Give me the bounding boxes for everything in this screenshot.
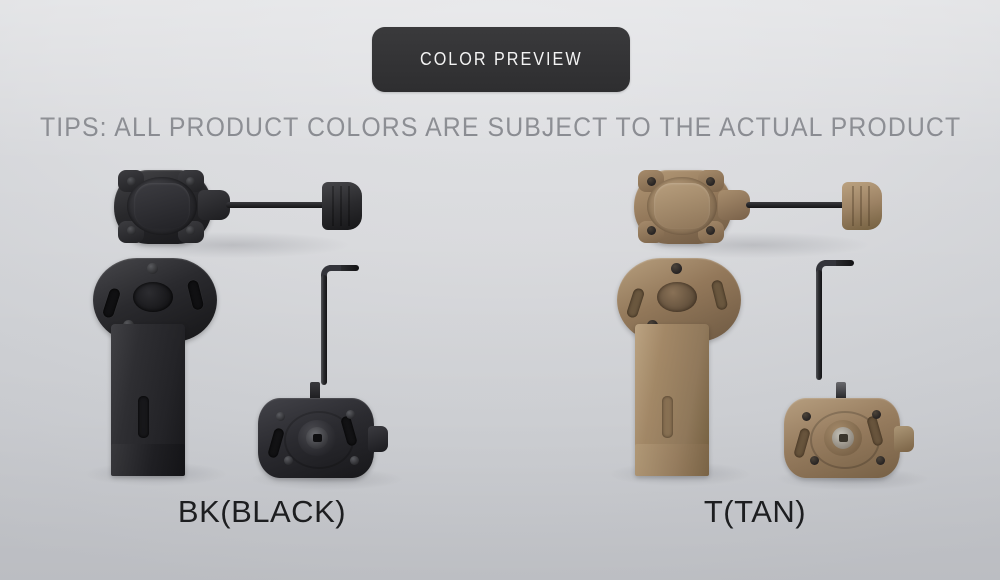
bracket-arm-slot <box>138 396 149 438</box>
hex-allen-key-tan <box>808 260 854 380</box>
remote-pressure-switch-bk <box>114 168 362 246</box>
switch-screw-1 <box>647 177 656 186</box>
helmet-rail-mount-bracket-tan <box>617 258 741 476</box>
switch-screw-3 <box>127 226 136 235</box>
plate-screw-2 <box>346 410 355 419</box>
plate-screw-3 <box>284 456 293 465</box>
plate-side-tab <box>368 426 388 452</box>
plate-screw-4 <box>350 456 359 465</box>
switch-screw-2 <box>186 177 195 186</box>
helmet-rail-mount-bracket-bk <box>93 258 217 476</box>
switch-screw-4 <box>186 226 195 235</box>
switch-screw-2 <box>706 177 715 186</box>
switch-screw-4 <box>706 226 715 235</box>
bracket-arm-slot <box>662 396 673 438</box>
plate-screw-3 <box>810 456 819 465</box>
color-preview-stage: COLOR PREVIEW TIPS: ALL PRODUCT COLORS A… <box>0 0 1000 580</box>
plate-hex-socket <box>839 434 848 442</box>
switch-pressure-pad <box>654 183 710 229</box>
badge-label: COLOR PREVIEW <box>420 49 583 70</box>
hex-key-long-arm <box>321 275 327 385</box>
plate-hex-socket <box>313 434 322 442</box>
adapter-base-plate-bk <box>258 398 386 478</box>
switch-screw-1 <box>127 177 136 186</box>
plate-screw-2 <box>872 410 881 419</box>
switch-pressure-pad <box>134 183 190 229</box>
plate-side-tab <box>894 426 914 452</box>
tips-text: TIPS: ALL PRODUCT COLORS ARE SUBJECT TO … <box>40 112 960 143</box>
bracket-foot <box>635 444 709 476</box>
plate-screw-1 <box>802 412 811 421</box>
variant-label-bk: BK(BLACK) <box>92 494 432 530</box>
variant-label-tan: T(TAN) <box>585 494 925 530</box>
bracket-screw-top <box>147 263 158 274</box>
bracket-center-hole <box>657 282 697 312</box>
plate-screw-4 <box>876 456 885 465</box>
hex-key-long-arm <box>816 270 822 380</box>
switch-screw-3 <box>647 226 656 235</box>
switch-connector-plug <box>322 182 362 230</box>
plate-screw-1 <box>276 412 285 421</box>
bracket-center-hole <box>133 282 173 312</box>
hex-allen-key-bk <box>313 265 359 385</box>
switch-connector-plug <box>842 182 882 230</box>
remote-pressure-switch-tan <box>634 168 882 246</box>
adapter-base-plate-tan <box>784 398 912 478</box>
bracket-screw-top <box>671 263 682 274</box>
bracket-foot <box>111 444 185 476</box>
color-preview-badge: COLOR PREVIEW <box>372 27 630 92</box>
